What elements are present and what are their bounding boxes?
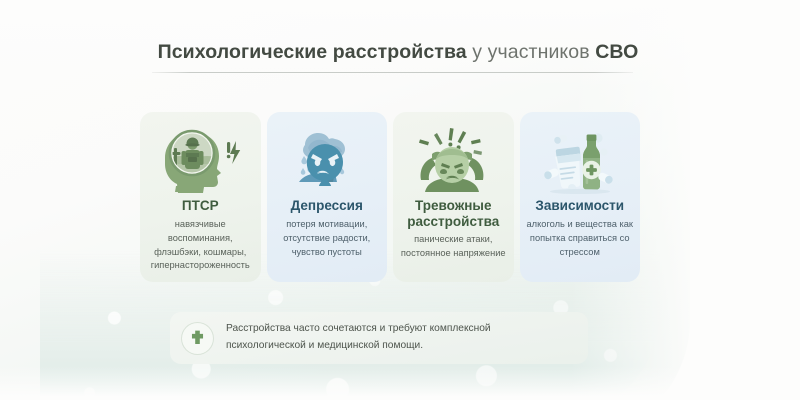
card-anxiety-artwork — [398, 122, 509, 194]
page-title-strong-first: Психологические расстройства — [158, 41, 467, 63]
background-fade-bottom — [0, 366, 800, 400]
card-anxiety-description: панические атаки, постоянное напряжение — [398, 233, 509, 261]
card-addiction-title: Зависимости — [535, 198, 624, 214]
card-addiction-description: алкоголь и вещества как попытка справить… — [525, 218, 636, 260]
page-title: Психологические расстройства у участнико… — [152, 42, 644, 63]
page-title-strong-second: СВО — [595, 41, 638, 63]
page-title-light: у участников — [472, 41, 589, 63]
card-depression[interactable]: Депрессия потеря мотивации, отсутствие р… — [267, 112, 388, 282]
card-depression-title: Депрессия — [291, 198, 363, 214]
stressed-head-exclamation-icon — [405, 122, 501, 194]
card-depression-artwork — [272, 122, 383, 194]
summary-note-line-1: Расстройства часто сочетаются и требуют … — [226, 321, 491, 338]
infographic-slide: Психологические расстройства у участнико… — [0, 0, 800, 400]
bottle-and-pills-icon — [532, 122, 628, 194]
card-depression-description: потеря мотивации, отсутствие радости, чу… — [272, 218, 383, 260]
summary-note-badge — [181, 322, 214, 355]
summary-note-line-2: психологической и медицинской помощи. — [226, 338, 491, 355]
summary-note-text: Расстройства часто сочетаются и требуют … — [226, 321, 491, 354]
card-ptsr-description: навязчивые воспоминания, флэшбэки, кошма… — [145, 218, 256, 274]
head-with-soldier-icon — [152, 122, 248, 194]
medical-cross-icon — [188, 329, 207, 348]
card-ptsr-artwork — [145, 122, 256, 194]
card-ptsr[interactable]: ПТСР навязчивые воспоминания, флэшбэки, … — [140, 112, 261, 282]
disorder-card-list: ПТСР навязчивые воспоминания, флэшбэки, … — [140, 112, 640, 282]
sad-face-rain-cloud-icon — [279, 122, 375, 194]
card-addiction-artwork — [525, 122, 636, 194]
title-divider — [152, 72, 633, 73]
card-ptsr-title: ПТСР — [182, 198, 219, 214]
card-anxiety-title: Тревожные расстройства — [398, 198, 509, 229]
card-anxiety[interactable]: Тревожные расстройства панические атаки,… — [393, 112, 514, 282]
header: Психологические расстройства у участнико… — [152, 42, 644, 73]
summary-note: Расстройства часто сочетаются и требуют … — [170, 312, 588, 364]
card-addiction[interactable]: Зависимости алкоголь и вещества как попы… — [520, 112, 641, 282]
